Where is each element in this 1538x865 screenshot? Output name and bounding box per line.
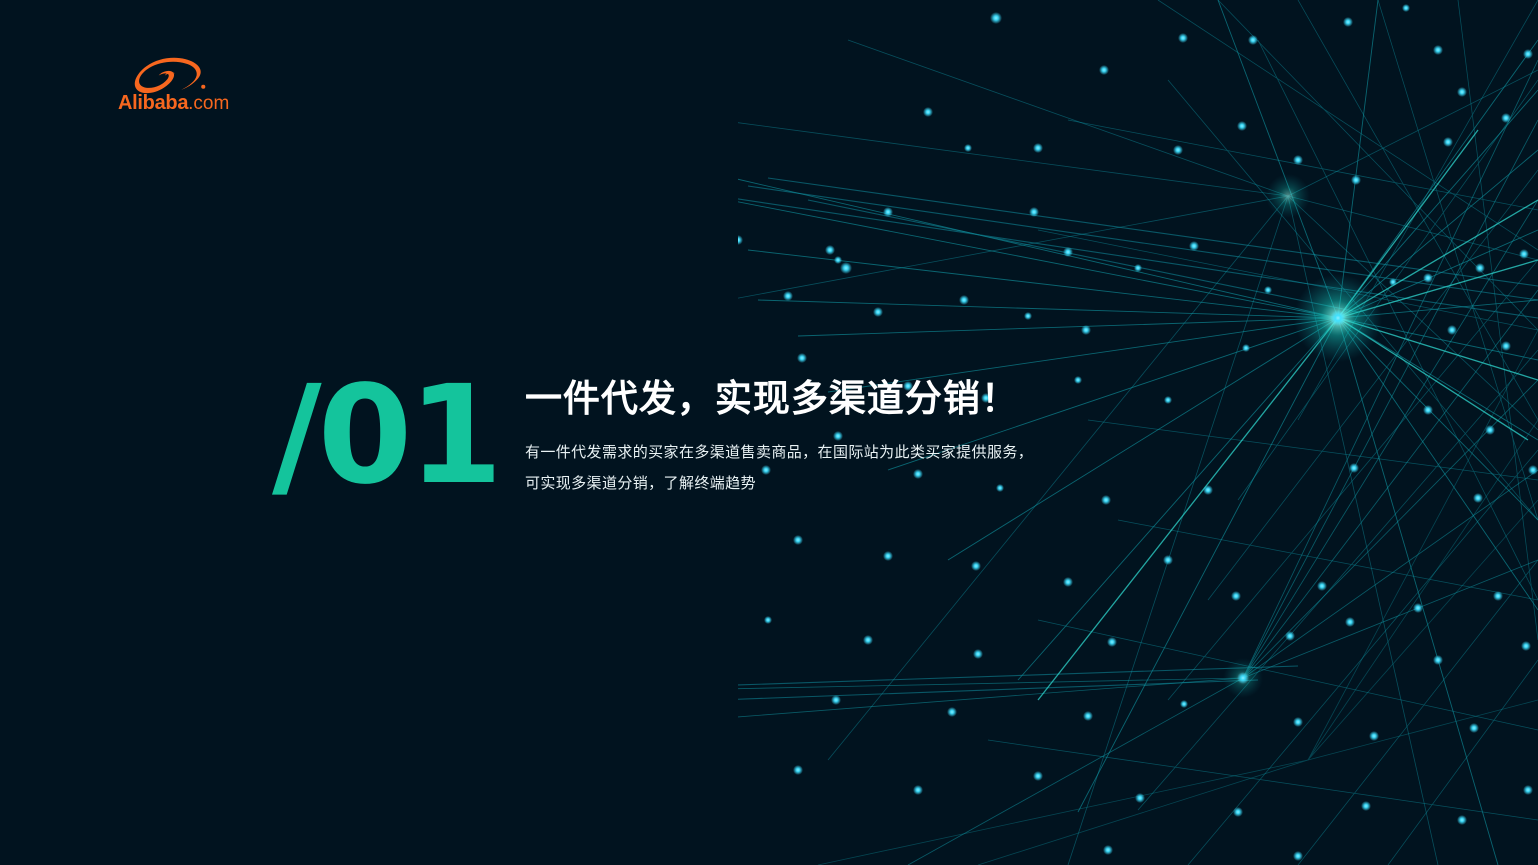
section-subtitle: 有一件代发需求的买家在多渠道售卖商品，在国际站为此类买家提供服务，可实现多渠道分…	[525, 437, 1047, 500]
slide-root: Alibaba.com /01 一件代发，实现多渠道分销！ 有一件代发需求的买家…	[0, 0, 1538, 865]
alibaba-logo: Alibaba.com	[118, 55, 228, 117]
logo-tld-text: .com	[188, 93, 229, 114]
page-title: 一件代发，实现多渠道分销！	[525, 378, 1047, 421]
alibaba-e-swoosh-icon	[130, 55, 212, 97]
section-number: /01	[272, 372, 499, 501]
section-headline-block: /01 一件代发，实现多渠道分销！ 有一件代发需求的买家在多渠道售卖商品，在国际…	[272, 368, 1047, 501]
headline-text-group: 一件代发，实现多渠道分销！ 有一件代发需求的买家在多渠道售卖商品，在国际站为此类…	[525, 368, 1047, 500]
alibaba-wordmark: Alibaba.com	[118, 93, 229, 113]
logo-brand-text: Alibaba	[118, 92, 188, 114]
